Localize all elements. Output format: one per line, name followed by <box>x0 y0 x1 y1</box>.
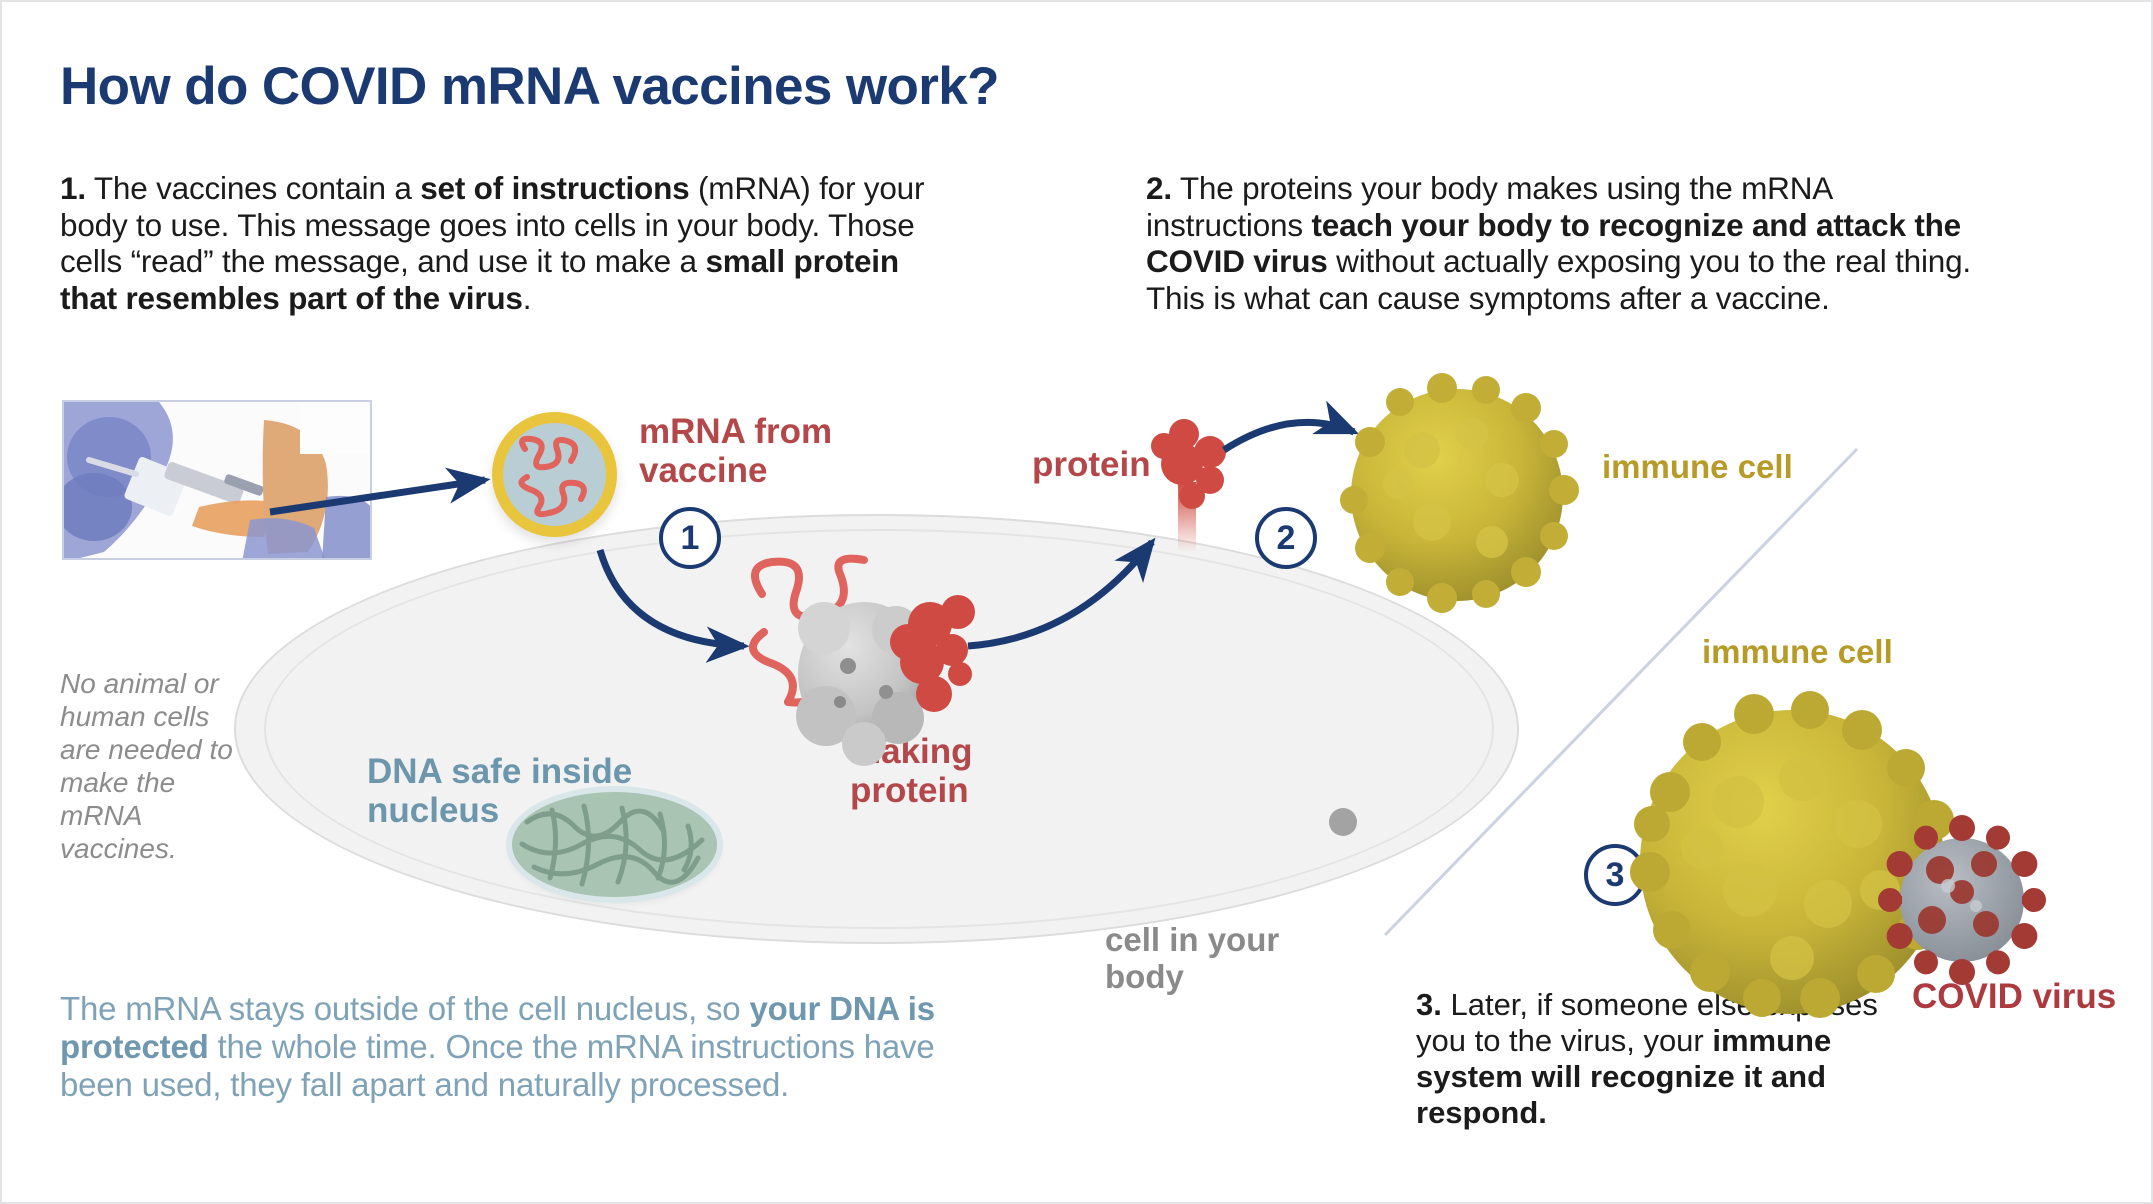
label-dna-safe-inside-nucleus: DNA safe insidenucleus <box>367 752 632 830</box>
no-animal-cells-note: No animal or human cells are needed to m… <box>60 667 235 865</box>
membrane-dot <box>1329 808 1357 836</box>
mrna-squiggle-icon <box>503 423 606 526</box>
vaccine-injection-photo <box>62 400 372 560</box>
cell-inner-outline <box>264 529 1494 929</box>
label-cell-in-your-body: cell in yourbody <box>1105 922 1279 996</box>
spike-protein-on-membrane <box>1151 419 1226 552</box>
page-title: How do COVID mRNA vaccines work? <box>60 56 999 117</box>
dna-protected-note: The mRNA stays outside of the cell nucle… <box>60 990 940 1104</box>
step-marker-1: 1 <box>659 507 721 569</box>
label-immune-cell-bottom: immune cell <box>1702 634 1893 671</box>
infographic-slide: How do COVID mRNA vaccines work? 1. The … <box>0 0 2153 1204</box>
step-marker-3: 3 <box>1584 844 1646 906</box>
arrow-protein-to-immune-cell <box>1224 422 1354 450</box>
step-2-paragraph: 2. The proteins your body makes using th… <box>1146 170 1976 316</box>
covid-virus-particle <box>1878 815 2046 985</box>
immune-cell-bottom <box>1630 691 1957 1018</box>
lipid-nanoparticle-mrna <box>492 412 617 537</box>
label-immune-cell-top: immune cell <box>1602 449 1793 486</box>
step-3-paragraph: 3. Later, if someone else exposes you to… <box>1416 987 1886 1131</box>
vaccine-injection-illustration <box>64 402 372 560</box>
immune-cell-top <box>1340 373 1579 613</box>
label-covid-virus: COVID virus <box>1912 977 2116 1016</box>
label-mrna-from-vaccine: mRNA fromvaccine <box>639 412 832 490</box>
label-protein: protein <box>1032 445 1151 484</box>
label-making-protein: makingprotein <box>850 732 973 810</box>
step-marker-2: 2 <box>1255 507 1317 569</box>
step-1-paragraph: 1. The vaccines contain a set of instruc… <box>60 170 940 316</box>
